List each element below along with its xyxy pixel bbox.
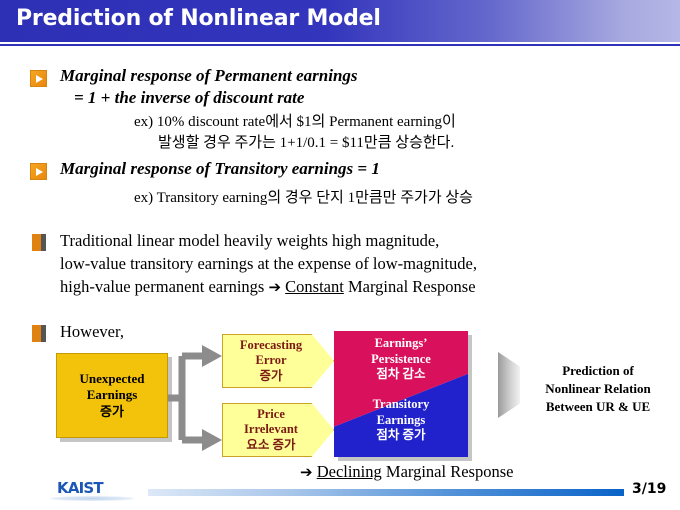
forecasting-error-line-1: Forecasting xyxy=(240,338,302,353)
page-number: 3/19 xyxy=(632,481,666,497)
paragraph-line-3-pre: high-value permanent earnings xyxy=(60,277,268,296)
paragraph-line-1: Traditional linear model heavily weights… xyxy=(60,231,439,251)
unexpected-earnings-line-1: Unexpected xyxy=(80,371,145,387)
kaist-logo: KAIST xyxy=(57,479,103,497)
play-triangle-icon xyxy=(30,70,47,87)
unexpected-earnings-line-3: 증가 xyxy=(100,404,124,420)
bullet-1-line-2: = 1 + the inverse of discount rate xyxy=(74,88,304,108)
transitory-earnings-line-2: Earnings xyxy=(334,413,468,429)
earnings-persistence-label: Earnings’ Persistence 점차 감소 xyxy=(334,336,468,383)
bullet-1-example-line-2: 발생할 경우 주가는 1+1/0.1 = $11만큼 상승한다. xyxy=(158,131,454,152)
play-triangle-icon xyxy=(30,163,47,180)
price-irrelevant-chevron: Price Irrelevant 요소 증가 xyxy=(222,403,334,457)
unexpected-earnings-line-2: Earnings xyxy=(87,387,138,403)
bullet-1-example-line-1: ex) 10% discount rate에서 $1의 Permanent ea… xyxy=(134,110,456,131)
however-label: However, xyxy=(60,322,124,342)
price-irrelevant-line-3: 요소 증가 xyxy=(246,438,295,453)
paragraph-line-3-underlined: Constant xyxy=(285,277,344,296)
arrow-right-icon: ➔ xyxy=(300,463,313,481)
unexpected-earnings-box: Unexpected Earnings 증가 xyxy=(56,353,168,438)
prediction-banner-tail xyxy=(498,352,520,418)
footer-gradient-bar xyxy=(148,489,624,496)
forecasting-error-line-2: Error xyxy=(255,353,286,368)
paragraph-line-3-post: Marginal Response xyxy=(344,277,476,296)
prediction-line-2: Nonlinear Relation xyxy=(518,380,678,398)
bullet-1-line-1: Marginal response of Permanent earnings xyxy=(60,66,358,86)
title-underline xyxy=(0,44,680,46)
earnings-persistence-line-1: Earnings’ xyxy=(334,336,468,352)
prediction-line-1: Prediction of xyxy=(518,362,678,380)
conclusion-line: ➔ Declining Marginal Response xyxy=(300,462,513,482)
earnings-persistence-line-2: Persistence xyxy=(334,352,468,368)
square-bullet-icon xyxy=(32,234,47,251)
transitory-earnings-label: Transitory Earnings 점차 증가 xyxy=(334,397,468,444)
conclusion-underlined: Declining xyxy=(317,462,382,481)
conclusion-rest: Marginal Response xyxy=(382,462,514,481)
paragraph-line-2: low-value transitory earnings at the exp… xyxy=(60,254,477,274)
earnings-persistence-line-3: 점차 감소 xyxy=(334,367,468,383)
page-title: Prediction of Nonlinear Model xyxy=(16,6,381,31)
arrow-right-icon: ➔ xyxy=(268,278,281,296)
branch-connector-arrow xyxy=(168,334,228,462)
persistence-transitory-split-box: Earnings’ Persistence 점차 감소 Transitory E… xyxy=(334,331,468,457)
transitory-earnings-line-1: Transitory xyxy=(334,397,468,413)
paragraph-line-3: high-value permanent earnings ➔ Constant… xyxy=(60,277,476,297)
forecasting-error-chevron: Forecasting Error 증가 xyxy=(222,334,334,388)
bullet-2-example-line-1: ex) Transitory earning의 경우 단지 1만큼만 주가가 상… xyxy=(134,186,473,207)
transitory-earnings-line-3: 점차 증가 xyxy=(334,428,468,444)
square-bullet-icon xyxy=(32,325,47,342)
bullet-2-line-1: Marginal response of Transitory earnings… xyxy=(60,159,380,179)
kaist-logo-swoosh xyxy=(50,496,134,501)
price-irrelevant-line-1: Price xyxy=(257,407,285,422)
price-irrelevant-line-2: Irrelevant xyxy=(244,422,298,437)
prediction-label: Prediction of Nonlinear Relation Between… xyxy=(518,362,678,416)
prediction-line-3: Between UR & UE xyxy=(518,398,678,416)
forecasting-error-line-3: 증가 xyxy=(259,369,282,384)
